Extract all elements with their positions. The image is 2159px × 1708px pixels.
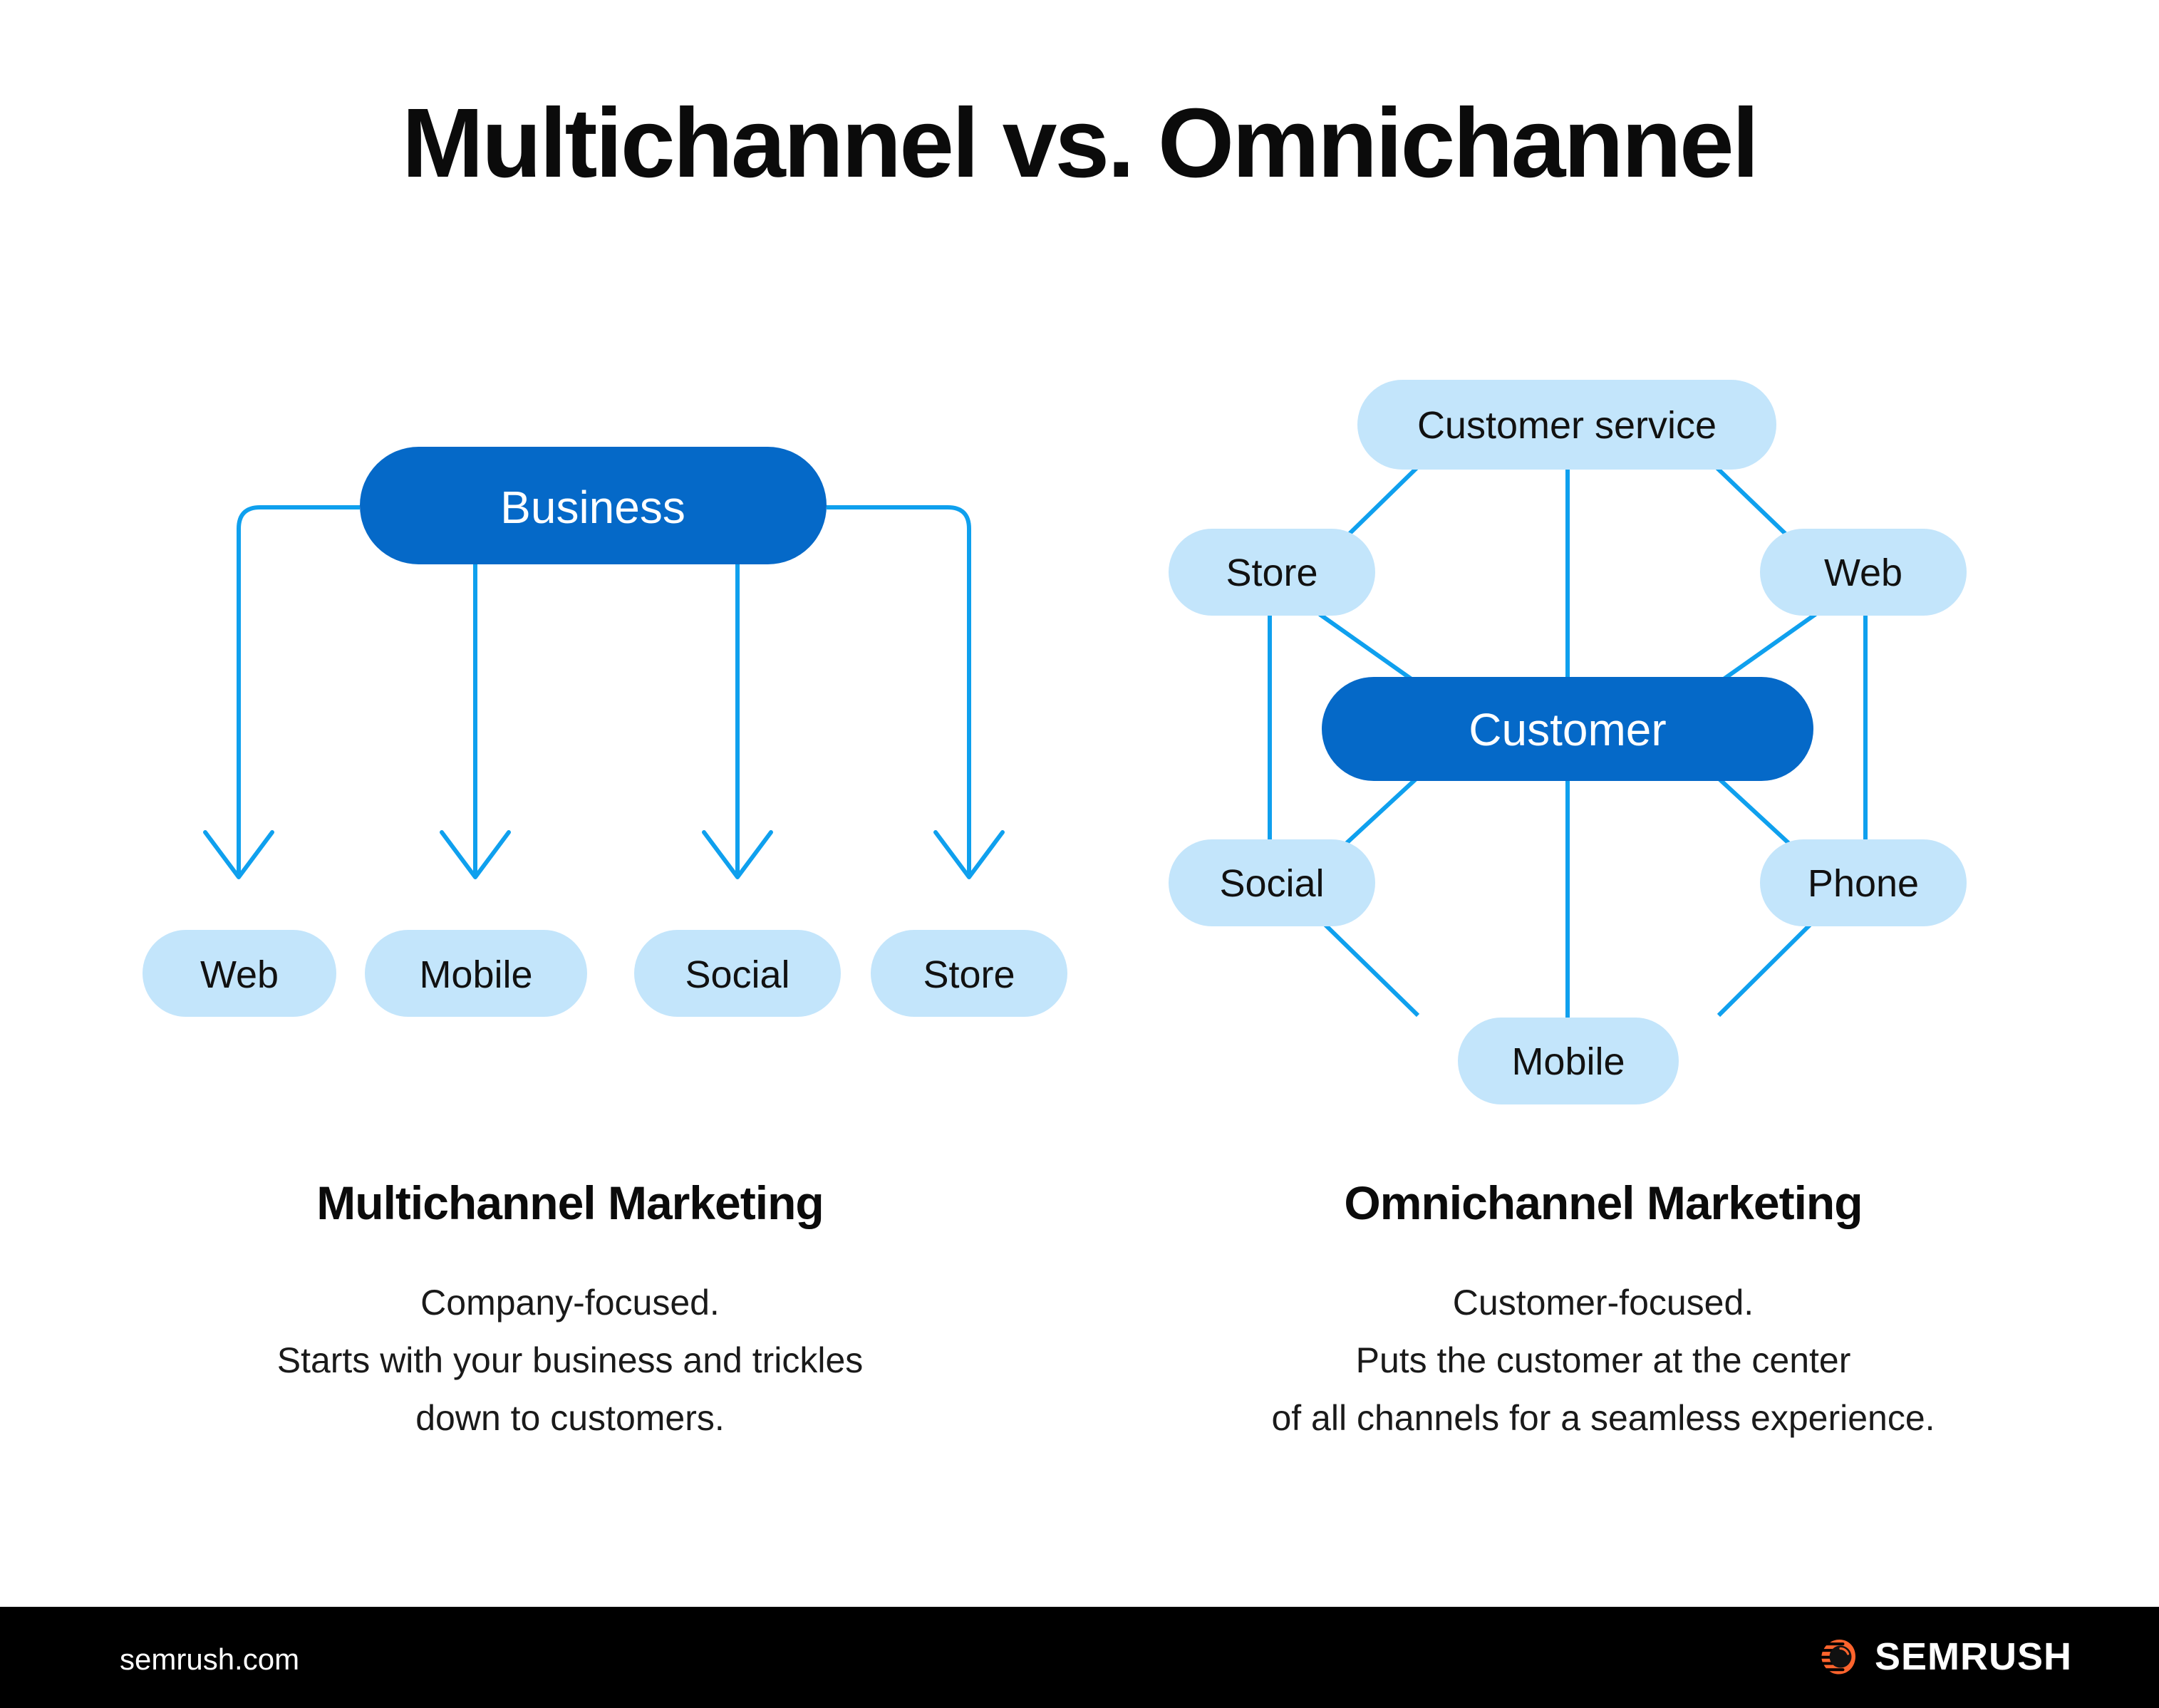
multichannel-caption: Multichannel Marketing Company-focused. … [78,1176,1062,1447]
connector-social-mobile [1325,925,1418,1015]
omnichannel-caption-body: Customer-focused. Puts the customer at t… [1112,1274,2095,1447]
arrowhead-store-icon [936,832,1003,877]
omnichannel-diagram: Customer service Store Web Customer Soci… [1169,380,1967,1104]
node-customer-service[interactable]: Customer service [1357,380,1776,470]
node-store-right-label: Store [1226,552,1317,594]
node-web-left[interactable]: Web [143,930,336,1017]
connector-web-customer [1714,614,1816,686]
node-business-label: Business [500,482,685,533]
node-customer[interactable]: Customer [1322,677,1813,781]
node-web-right[interactable]: Web [1760,529,1967,616]
multichannel-caption-line-2: Starts with your business and trickles [78,1332,1062,1389]
omnichannel-caption-line-2: Puts the customer at the center [1112,1332,2095,1389]
node-social-left[interactable]: Social [634,930,841,1017]
node-mobile-right[interactable]: Mobile [1458,1018,1679,1104]
node-phone[interactable]: Phone [1760,839,1967,926]
multichannel-diagram: Business Web Mobile Social Store [143,447,1067,1017]
infographic-canvas: Multichannel vs. Omnichannel [0,0,2159,1708]
semrush-logo[interactable]: SEMRUSH [1813,1634,2072,1679]
omnichannel-caption-heading: Omnichannel Marketing [1112,1176,2095,1230]
connector-phone-mobile [1719,925,1810,1015]
arrowhead-mobile-icon [442,832,509,877]
omnichannel-caption: Omnichannel Marketing Customer-focused. … [1112,1176,2095,1447]
node-customer-service-label: Customer service [1417,404,1717,447]
node-customer-label: Customer [1469,704,1666,755]
node-web-right-label: Web [1824,552,1902,594]
node-social-right-label: Social [1219,862,1324,905]
arrowhead-social-icon [704,832,771,877]
node-social-left-label: Social [685,953,789,996]
connector-store-customer [1320,614,1422,686]
multichannel-caption-body: Company-focused. Starts with your busine… [78,1274,1062,1447]
multichannel-arrowheads [205,832,1003,877]
semrush-wordmark: SEMRUSH [1875,1637,2072,1676]
multichannel-caption-heading: Multichannel Marketing [78,1176,1062,1230]
node-mobile-left-label: Mobile [419,953,532,996]
arrowhead-web-icon [205,832,272,877]
node-store-left[interactable]: Store [871,930,1067,1017]
node-web-left-label: Web [200,953,279,996]
connector-business-web [239,507,360,875]
node-phone-label: Phone [1808,862,1919,905]
multichannel-caption-line-3: down to customers. [78,1389,1062,1447]
footer-website-url[interactable]: semrush.com [120,1642,299,1677]
omnichannel-caption-line-1: Customer-focused. [1112,1274,2095,1332]
omnichannel-caption-line-3: of all channels for a seamless experienc… [1112,1389,2095,1447]
node-social-right[interactable]: Social [1169,839,1375,926]
node-mobile-left[interactable]: Mobile [365,930,587,1017]
footer-bar: semrush.com SEMRUSH [0,1607,2159,1708]
multichannel-caption-line-1: Company-focused. [78,1274,1062,1332]
diagrams-svg: Business Web Mobile Social Store [0,0,2159,1708]
connector-business-store [827,507,969,875]
semrush-comet-icon [1813,1634,1859,1679]
node-business[interactable]: Business [360,447,827,564]
node-mobile-right-label: Mobile [1511,1040,1625,1083]
node-store-left-label: Store [923,953,1015,996]
node-store-right[interactable]: Store [1169,529,1375,616]
page-title: Multichannel vs. Omnichannel [0,94,2159,192]
